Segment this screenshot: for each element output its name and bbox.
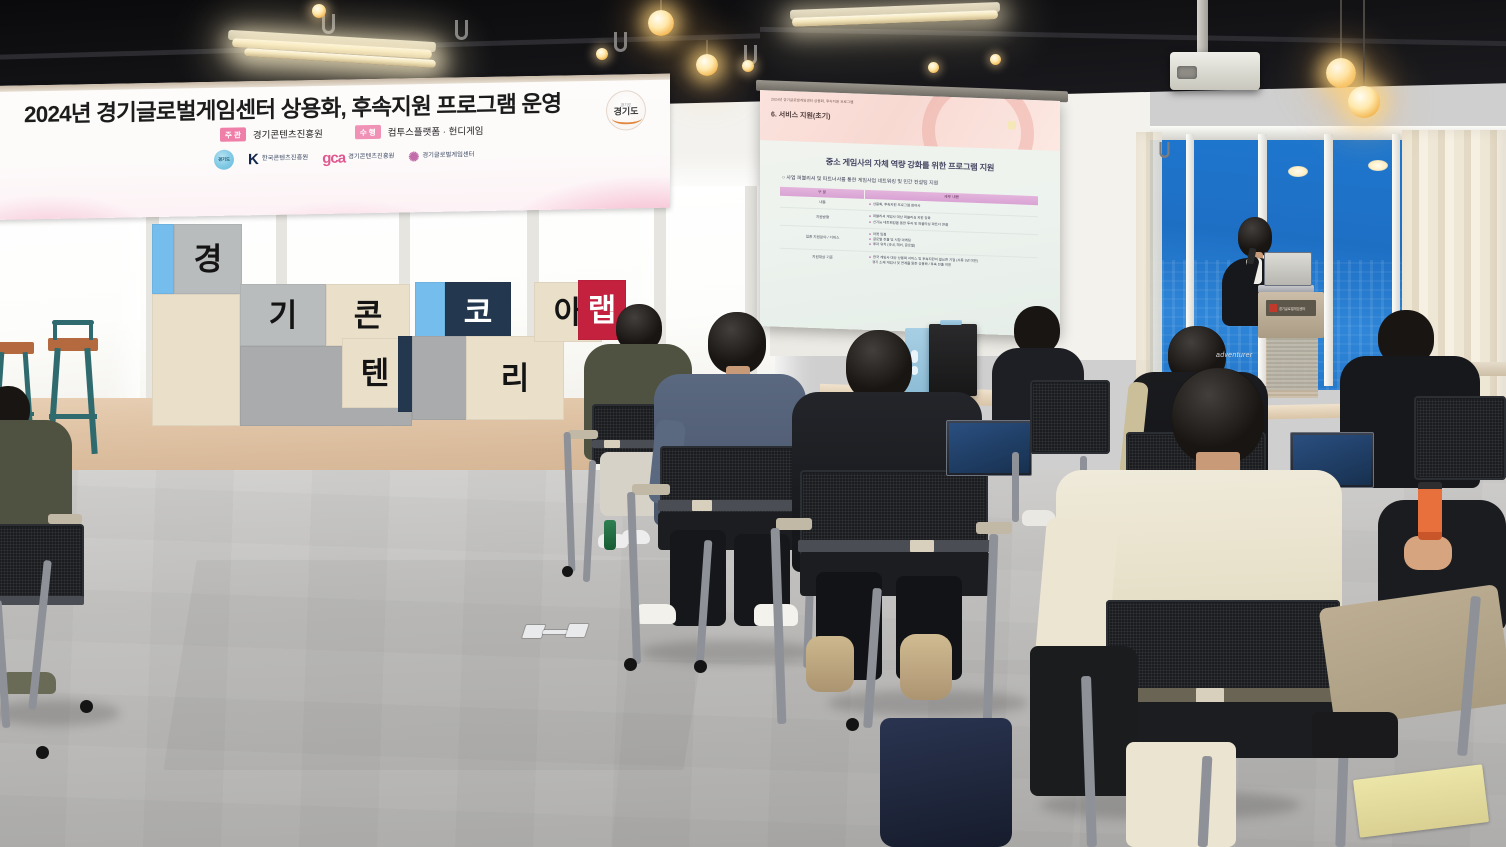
window-mullion-blue — [1324, 134, 1333, 386]
banner-title: 2024년 경기글로벌게임센터 상용화, 후속지원 프로그램 운영 — [24, 85, 624, 130]
slide-title: 중소 게임사의 자체 역량 강화를 위한 프로그램 지원 — [760, 153, 1060, 176]
slide-body: 중소 게임사의 자체 역량 강화를 위한 프로그램 지원 ○ 사업 퍼블리셔 및… — [760, 140, 1060, 337]
hair-highlight — [1172, 368, 1264, 464]
attendee-laptop[interactable] — [946, 420, 1032, 476]
speaker-port-icon — [911, 366, 918, 375]
outlet-plate-left — [522, 625, 545, 638]
pendant-bulb — [648, 10, 674, 36]
stage-block-letter: 경 — [174, 224, 242, 294]
ceiling-hook — [614, 32, 627, 52]
host-tag: 수 행 — [355, 125, 381, 139]
chair-mesh — [1033, 383, 1107, 451]
ceiling-hook — [1159, 142, 1169, 158]
attendee-leg — [670, 530, 726, 626]
chair-caster — [694, 660, 707, 673]
presenter-laptop-screen[interactable] — [1264, 252, 1312, 286]
stool-backrest-post — [89, 322, 93, 340]
floor-power-outlet[interactable] — [520, 621, 593, 643]
chair-caster — [36, 746, 49, 759]
screen-surface: 2024년 경기글로벌게임센터 상용화, 후속지원 프로그램 6. 서비스 지원… — [760, 90, 1060, 337]
chair-label-tag — [1196, 688, 1224, 703]
ceiling-downlight — [1368, 160, 1388, 171]
slide-section-title: 6. 서비스 지원(초기) — [771, 109, 830, 121]
chair-mesh — [1417, 399, 1503, 477]
stage-block-filler — [152, 294, 240, 426]
chair-armrest — [632, 484, 670, 495]
track-spotlight — [990, 54, 1001, 65]
slide-row-label: 지원대상 기준 — [780, 248, 865, 268]
slide-row-label: 집중 지원분야 / 서비스 — [780, 226, 865, 251]
stool-backrest — [52, 320, 94, 325]
chair-label-tag — [604, 440, 620, 448]
ceiling-hook — [322, 14, 335, 34]
attendee-shoe — [2, 672, 56, 694]
organizer-tag: 주 관 — [220, 127, 246, 141]
hair-highlight — [708, 312, 766, 374]
pendant-bulb — [1348, 86, 1380, 118]
seal-arc-icon — [612, 112, 642, 125]
pendant-cord — [1340, 0, 1342, 62]
slide-row-label: 지원방향 — [780, 208, 865, 228]
chair-armrest — [48, 514, 82, 524]
floor-carpet-patch — [612, 660, 1088, 847]
track-spotlight — [596, 48, 608, 60]
track-spotlight — [928, 62, 939, 73]
attendee-hand — [1404, 536, 1452, 570]
logo-gcon-lab: ✺ 경기글로벌게임센터 — [408, 149, 474, 163]
outlet-bridge — [542, 630, 567, 634]
projector-lens — [1177, 66, 1197, 79]
ceiling-hook — [455, 20, 468, 40]
outlet-plate-right — [565, 624, 588, 637]
jacket-badge-text: adventurer — [1216, 352, 1252, 359]
chair-leg — [1012, 452, 1019, 522]
logo-gyeonggi-emblem: 경기도 — [214, 150, 234, 170]
logo-kocca: K 한국콘텐츠진흥원 — [248, 151, 308, 167]
podium-logo-icon — [1269, 304, 1277, 312]
chair-armrest — [976, 522, 1012, 534]
figure-shadow — [640, 640, 820, 664]
podium-perforated-base — [1266, 338, 1318, 398]
projector-mount-arm — [1197, 0, 1208, 58]
backpack — [880, 718, 1012, 847]
gca-label: 경기콘텐츠진흥원 — [348, 153, 394, 161]
slide-accent-square — [1008, 121, 1016, 129]
stage-block-letter: 기 — [240, 284, 326, 346]
gyeonggi-seal-icon: 경기도 경기도 — [606, 90, 646, 131]
slide-kicker: 2024년 경기글로벌게임센터 상용화, 후속지원 프로그램 — [771, 97, 853, 105]
chair-backrest — [1030, 380, 1110, 454]
event-banner: 2024년 경기글로벌게임센터 상용화, 후속지원 프로그램 운영 주 관 경기… — [0, 74, 670, 220]
attendee-head — [1172, 368, 1264, 464]
gcon-lab-label: 경기글로벌게임센터 — [422, 152, 474, 160]
attendee-shoe-sole — [806, 636, 854, 692]
stage-block-accent — [152, 224, 174, 294]
water-bottle-green[interactable] — [604, 520, 616, 550]
projection-screen: 2024년 경기글로벌게임센터 상용화, 후속지원 프로그램 6. 서비스 지원… — [760, 90, 1060, 337]
stool-rail — [49, 414, 97, 419]
chair-caster — [562, 566, 573, 577]
chair-armrest — [776, 518, 812, 530]
stage-block-letter: 리 — [466, 336, 564, 420]
stool-seat — [0, 342, 34, 354]
stage-block-accent — [415, 282, 445, 342]
kocca-mark-icon: K — [248, 152, 259, 167]
gcon-lab-mark-icon: ✺ — [408, 150, 419, 163]
gca-mark-icon: gca — [322, 150, 345, 165]
ceiling-downlight — [1288, 166, 1308, 177]
attendee-shoe — [636, 604, 676, 624]
stage-block-letter: 코 — [445, 282, 511, 342]
pa-speaker — [929, 324, 977, 396]
chair-caster — [80, 700, 93, 713]
speaker-port-icon — [911, 350, 918, 363]
attendee-shoe-sole — [900, 634, 952, 700]
pendant-cord — [1363, 0, 1365, 90]
window-curtain-left — [1136, 132, 1162, 382]
chair-support-bar — [658, 500, 812, 511]
host-name: 컴투스플랫폼 · 헌디게임 — [388, 123, 484, 139]
chair-backrest — [1414, 396, 1506, 480]
attendee-head — [708, 312, 766, 374]
track-spotlight — [742, 60, 754, 72]
slide-lead-bullet: ○ 사업 퍼블리셔 및 파트너사를 통한 게임사업 네트워킹 및 민간 컨설팅 … — [782, 174, 938, 187]
attendee-dress-shoe — [1312, 712, 1398, 758]
track-spotlight — [312, 4, 326, 18]
drink-bottle-orange[interactable] — [1418, 482, 1442, 540]
slide-table: 구 분 세부 내용 내용 상용화, 후속지원 프로그램 참여사 지원방향 퍼블리… — [780, 187, 1038, 275]
gyeonggi-emblem-icon: 경기도 — [214, 150, 234, 170]
attendee-leg — [1126, 742, 1236, 847]
podium-logo-text: 경기글로벌게임센터 — [1279, 306, 1305, 311]
kocca-label: 한국콘텐츠진흥원 — [262, 155, 308, 163]
chair-caster — [846, 718, 859, 731]
podium-logo-plate: 경기글로벌게임센터 — [1266, 300, 1316, 316]
chair-caster — [624, 658, 637, 671]
organizer-name: 경기콘텐츠진흥원 — [253, 126, 323, 141]
banner-credits: 주 관 경기콘텐츠진흥원 수 행 컴투스플랫폼 · 헌디게임 — [220, 123, 484, 142]
stage-block-filler — [412, 336, 472, 420]
attendee-head — [1014, 306, 1060, 354]
stool-backrest-post — [53, 322, 57, 340]
chair-support-bar — [798, 540, 992, 552]
banner-logo-row: 경기도 K 한국콘텐츠진흥원 gca 경기콘텐츠진흥원 ✺ 경기글로벌게임센터 — [214, 145, 474, 170]
chair-label-tag — [910, 540, 934, 552]
chair-armrest — [568, 430, 598, 439]
logo-gca: gca 경기콘텐츠진흥원 — [322, 149, 394, 165]
speaker-top-handle — [940, 320, 962, 325]
seminar-room-photo: 2024년 경기글로벌게임센터 상용화, 후속지원 프로그램 운영 주 관 경기… — [0, 0, 1506, 847]
pendant-bulb — [696, 54, 718, 76]
chair-label-tag — [692, 500, 712, 511]
pendant-bulb — [1326, 58, 1356, 88]
